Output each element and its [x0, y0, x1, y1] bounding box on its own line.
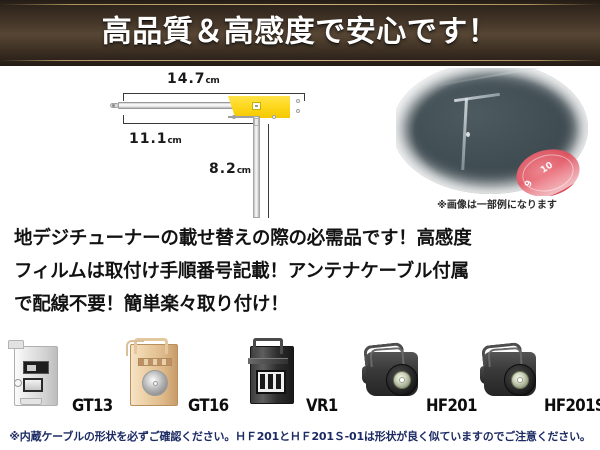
header-banner: 高品質＆高感度で安心です！ [0, 0, 600, 66]
gt16-connector-icon [122, 336, 188, 412]
connector-label-vr1: VR1 [306, 396, 338, 416]
footer-disclaimer: ※内蔵ケーブルの形状を必ずご確認ください。ＨＦ201とＨＦ201Ｓ-01は形状が… [0, 428, 600, 444]
gt16-center-pin [153, 381, 158, 386]
dimension-value-inner-width: 11.1 [129, 131, 168, 147]
dimension-unit-tail-height: cm [237, 166, 251, 176]
caliper-tick-left-inner [123, 115, 124, 123]
gt13-foot [20, 398, 42, 405]
connector-item-gt16: GT16 [118, 332, 238, 424]
connector-item-hf201: HF201 [356, 332, 476, 424]
caliper-line-total-width [123, 93, 305, 94]
antenna-pad-dot-1 [296, 99, 300, 103]
dimension-label-inner-width: 11.1cm [129, 128, 181, 147]
antenna-pad-dot-2 [296, 109, 300, 113]
connector-label-hf201s01: HF201S-01 [544, 396, 600, 416]
dimension-unit-total-width: cm [206, 76, 220, 86]
vr1-pin-array [260, 374, 281, 389]
photo-caption: ※画像は一部例になります [402, 196, 592, 211]
dimension-label-total-width: 14.7cm [167, 68, 219, 87]
description-line-2: フィルムは取付け手順番号記載！アンテナケーブル付属 [14, 255, 586, 288]
dimension-label-tail-height: 8.2cm [209, 158, 251, 177]
connector-type-row: GT13 GT16 VR1 [0, 332, 600, 424]
description-line-3: で配線不要！簡単楽々取り付け！ [14, 288, 586, 321]
gt13-housing [14, 346, 58, 406]
antenna-vertical-tail [253, 116, 260, 218]
connector-item-gt13: GT13 [2, 332, 122, 424]
gt13-side-circle [14, 379, 22, 387]
product-description: 地デジチューナーの載せ替えの際の必需品です！高感度 フィルムは取付け手順番号記載… [0, 222, 600, 321]
caliper-tick-right-total [304, 93, 305, 101]
caliper-line-tail-height [268, 124, 269, 218]
connector-item-vr1: VR1 [236, 332, 356, 424]
caliper-tick-left-total [123, 93, 124, 101]
vr1-edge-band [248, 358, 288, 364]
gt16-slot-band [138, 358, 172, 366]
antenna-arm-eyelet [112, 104, 115, 107]
gt13-latch-tab [8, 340, 24, 349]
dimension-value-tail-height: 8.2 [209, 161, 237, 177]
gt13-port [23, 378, 43, 392]
dimension-unit-inner-width: cm [168, 136, 182, 146]
antenna-tail-node [254, 118, 259, 126]
hf201s01-connector-icon [478, 336, 544, 412]
antenna-pad-marker [252, 102, 261, 110]
connector-label-gt16: GT16 [188, 396, 229, 416]
hf201-center-pin [399, 377, 405, 383]
antenna-dimension-diagram: 14.7cm 11.1cm 8.2cm [0, 66, 390, 218]
connector-label-gt13: GT13 [72, 396, 113, 416]
dimension-value-total-width: 14.7 [167, 71, 206, 87]
description-line-1: 地デジチューナーの載せ替えの際の必需品です！高感度 [14, 222, 586, 255]
vr1-connector-icon [240, 336, 306, 412]
caliper-line-inner-width [123, 123, 260, 124]
vr1-latch-clip [253, 338, 283, 354]
antenna-bracket [228, 116, 256, 118]
antenna-pad-dot-4 [272, 115, 276, 119]
hf201s01-center-pin [517, 377, 523, 383]
connector-label-hf201: HF201 [426, 396, 477, 416]
connector-item-hf201s01: HF201S-01 [474, 332, 594, 424]
gt13-connector-icon [6, 336, 72, 412]
gt13-top-slot [23, 361, 49, 374]
windshield-photo: 9 10 [396, 68, 594, 196]
hf201-connector-icon [360, 336, 426, 412]
gt16-wire [126, 340, 144, 356]
product-banner-image: 高品質＆高感度で安心です！ 14.7cm 11.1cm [0, 0, 600, 450]
photo-vignette [396, 68, 594, 196]
banner-title: 高品質＆高感度で安心です！ [0, 17, 600, 47]
